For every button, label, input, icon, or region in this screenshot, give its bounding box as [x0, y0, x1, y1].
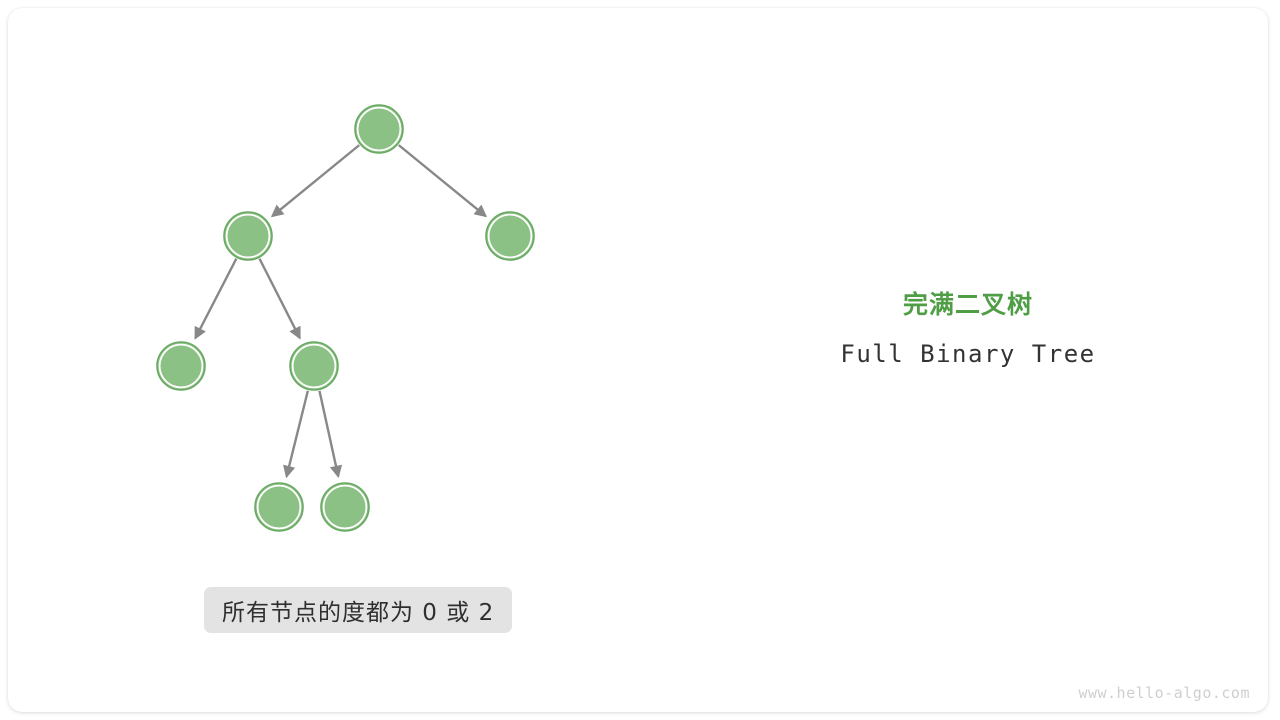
legend-title-en: Full Binary Tree: [768, 339, 1168, 369]
tree-node-body: [489, 215, 532, 258]
tree-node: [224, 212, 272, 260]
tree-node: [355, 105, 403, 153]
tree-edge: [260, 259, 300, 338]
tree-node-body: [324, 486, 367, 529]
tree-nodes: [157, 105, 534, 531]
tree-node: [321, 483, 369, 531]
figure-canvas: 完满二叉树 Full Binary Tree 所有节点的度都为 0 或 2 ww…: [0, 0, 1280, 720]
legend-title-zh: 完满二叉树: [768, 288, 1168, 322]
tree-edge: [195, 259, 236, 338]
tree-node-body: [358, 108, 401, 151]
tree-node: [157, 342, 205, 390]
tree-node: [290, 342, 338, 390]
tree-edge: [272, 145, 359, 216]
watermark-label: www.hello-algo.com: [1078, 684, 1250, 702]
tree-edge: [319, 391, 338, 476]
tree-node-body: [160, 345, 203, 388]
tree-edge: [287, 391, 308, 477]
tree-node-body: [293, 345, 336, 388]
tree-node: [486, 212, 534, 260]
caption-pill: 所有节点的度都为 0 或 2: [204, 587, 512, 633]
tree-node: [255, 483, 303, 531]
legend-block: 完满二叉树 Full Binary Tree: [768, 288, 1168, 369]
tree-edges: [195, 145, 485, 476]
tree-node-body: [227, 215, 270, 258]
tree-edge: [399, 145, 486, 216]
tree-node-body: [258, 486, 301, 529]
